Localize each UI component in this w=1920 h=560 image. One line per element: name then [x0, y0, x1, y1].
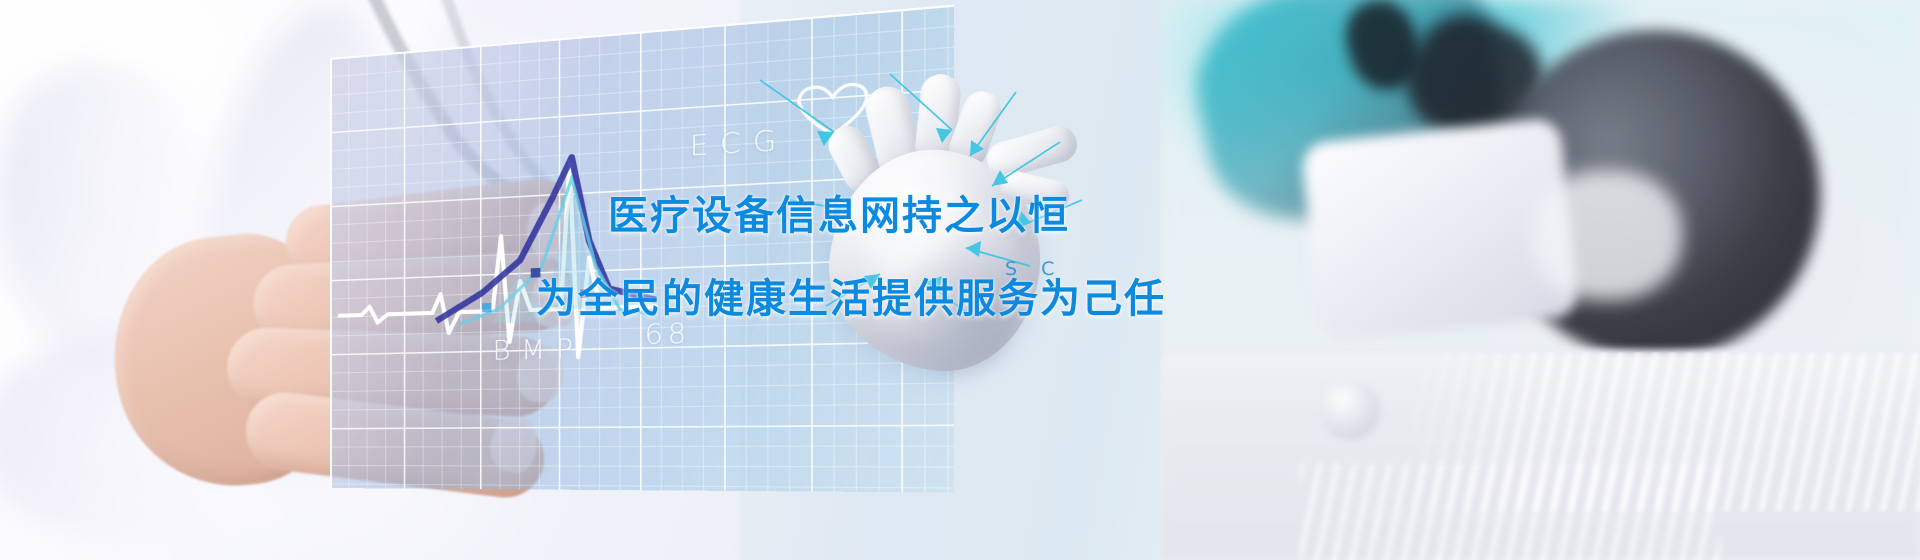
headline-line-1: 医疗设备信息网持之以恒: [608, 196, 1368, 237]
microscope-knob: [1320, 380, 1380, 440]
medical-banner: ECG BMP 68 S C 医疗设备信息网持之: [0, 0, 1920, 560]
ecg-label: ECG: [690, 124, 789, 163]
headline-line-2: 为全民的健康生活提供服务为己任: [536, 279, 1368, 320]
headline-block: 医疗设备信息网持之以恒 为全民的健康生活提供服务为己任: [608, 196, 1368, 320]
ruler-scale: [1300, 464, 1720, 560]
microscope-highlight: [1532, 170, 1682, 300]
panel-edge: [330, 58, 332, 488]
bmp-value: 68: [644, 318, 690, 351]
heart-vessel: [983, 122, 1081, 182]
bmp-label: BMP: [493, 334, 584, 367]
